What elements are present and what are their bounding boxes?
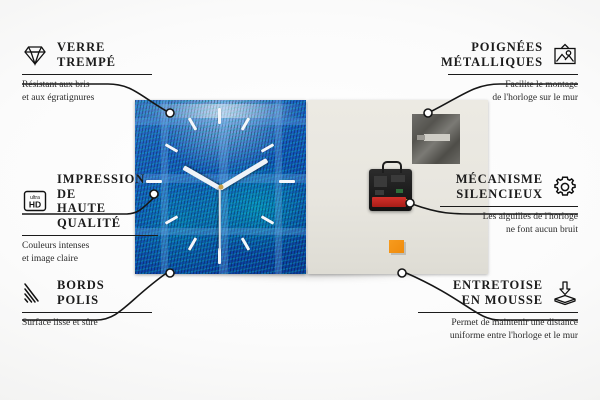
hanger-plate: [412, 114, 460, 164]
mechanism-detail: [396, 189, 403, 193]
feature-divider: [22, 74, 152, 75]
feature-subtitle: Permet de maintenir une distance uniform…: [418, 317, 578, 342]
feature-header: ultra HD IMPRESSION DE HAUTE QUALITÉ: [22, 172, 158, 230]
feature-divider: [22, 235, 158, 236]
feature-subtitle: Couleurs intenses et image claire: [22, 240, 158, 265]
feature-subtitle: Surface lisse et sûre: [22, 317, 152, 329]
hour-marker: [261, 215, 275, 225]
feature-header: ENTRETOISE EN MOUSSE: [418, 278, 578, 307]
feature-header: MÉCANISME SILENCIEUX: [440, 172, 578, 201]
glass-grid-line: [161, 100, 168, 274]
hour-marker: [279, 180, 295, 183]
foam-spacer-icon: [552, 280, 578, 306]
feature-header: VERRE TREMPÉ: [22, 40, 152, 69]
feature-verre-trempe[interactable]: VERRE TREMPÉ Résistant aux bris et aux é…: [22, 40, 152, 104]
hour-marker: [188, 237, 198, 251]
diamond-icon: [22, 42, 48, 68]
feature-divider: [22, 312, 152, 313]
feature-poignees-metalliques[interactable]: POIGNÉES MÉTALLIQUES Facilite le montage…: [448, 40, 578, 104]
mechanism-detail: [375, 190, 384, 195]
feature-mecanisme-silencieux[interactable]: MÉCANISME SILENCIEUX Les aiguilles de l'…: [440, 172, 578, 236]
mechanism-detail: [391, 175, 405, 182]
picture-hanger-icon: [552, 42, 578, 68]
infographic-canvas: VERRE TREMPÉ Résistant aux bris et aux é…: [0, 0, 600, 400]
svg-text:HD: HD: [29, 200, 41, 210]
feature-subtitle: Résistant aux bris et aux égratignures: [22, 79, 152, 104]
hour-marker: [261, 143, 275, 153]
feature-divider: [418, 312, 578, 313]
battery: [372, 197, 406, 207]
feature-impression-haute-qualite[interactable]: ultra HD IMPRESSION DE HAUTE QUALITÉ Cou…: [22, 172, 158, 265]
hour-marker: [218, 248, 221, 264]
polished-edge-icon: [22, 280, 48, 306]
feature-title: ENTRETOISE EN MOUSSE: [453, 278, 543, 307]
feature-divider: [448, 74, 578, 75]
feature-subtitle: Facilite le montage de l'horloge sur le …: [448, 79, 578, 104]
hour-marker: [218, 108, 221, 124]
mechanism-hook: [382, 161, 402, 173]
hanger-slot: [424, 134, 450, 141]
feature-divider: [440, 206, 578, 207]
feature-header: POIGNÉES MÉTALLIQUES: [448, 40, 578, 69]
feature-bords-polis[interactable]: BORDS POLIS Surface lisse et sûre: [22, 278, 152, 330]
hour-marker: [241, 237, 251, 251]
glass-grid-line: [275, 100, 282, 274]
feature-entretoise-en-mousse[interactable]: ENTRETOISE EN MOUSSE Permet de maintenir…: [418, 278, 578, 342]
clock-face: [135, 100, 306, 274]
feature-title: MÉCANISME SILENCIEUX: [456, 172, 543, 201]
feature-title: IMPRESSION DE HAUTE QUALITÉ: [57, 172, 158, 230]
feature-title: BORDS POLIS: [57, 278, 105, 307]
mechanism-detail: [374, 176, 387, 187]
second-hand: [219, 188, 221, 250]
gear-icon: [552, 174, 578, 200]
clock-mechanism: [369, 169, 412, 211]
clock-pivot: [218, 185, 223, 190]
feature-header: BORDS POLIS: [22, 278, 152, 307]
feature-title: POIGNÉES MÉTALLIQUES: [441, 40, 543, 69]
foam-spacer: [389, 240, 404, 253]
feature-title: VERRE TREMPÉ: [57, 40, 116, 69]
feature-subtitle: Les aiguilles de l'horloge ne font aucun…: [440, 211, 578, 236]
ultra-hd-icon: ultra HD: [22, 188, 48, 214]
product-image: [135, 100, 488, 274]
